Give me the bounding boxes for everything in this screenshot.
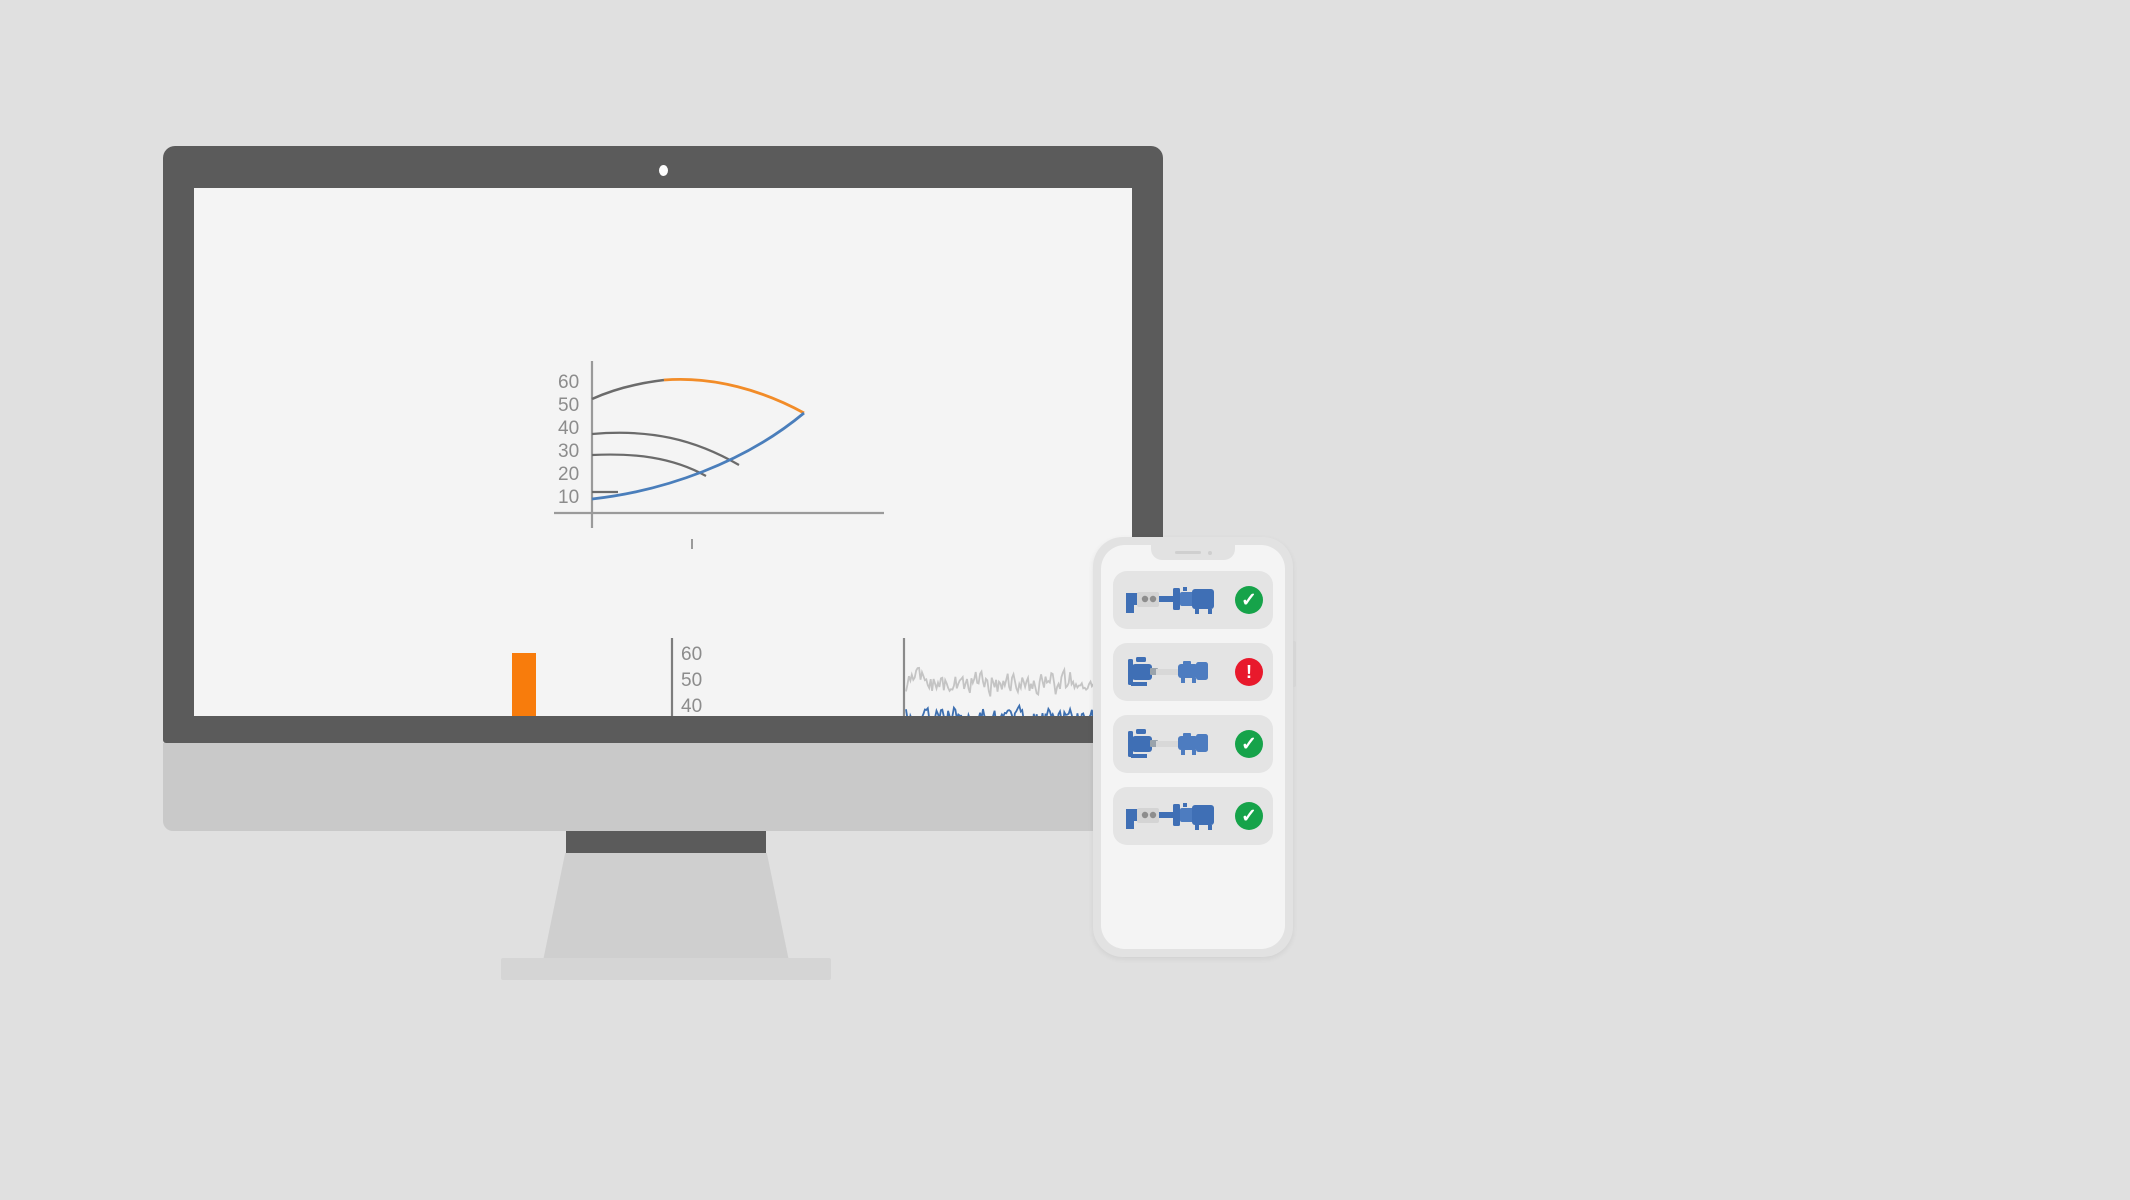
ytick-label: 10: [558, 487, 579, 508]
smartphone: ✓: [1093, 537, 1293, 957]
equipment-status-list: ✓: [1113, 571, 1273, 845]
status-badge: ✓: [1235, 802, 1263, 830]
chart-performance-envelope: 60 50 40 30 20 10: [554, 353, 884, 553]
phone-screen: ✓: [1101, 545, 1285, 949]
series-system-curve: [592, 413, 804, 499]
status-badge: !: [1235, 658, 1263, 686]
ytick-label: 60: [681, 644, 702, 665]
flanged-pump-motor-icon: [1123, 724, 1235, 764]
series-head-curve-upper-gray: [592, 380, 664, 399]
ytick-label: 30: [558, 441, 579, 462]
ytick-label: 50: [558, 395, 579, 416]
list-item[interactable]: ✓: [1113, 787, 1273, 845]
phone-frame: ✓: [1093, 537, 1293, 957]
ytick-label: 40: [681, 696, 702, 716]
monitor-stand-collar: [566, 831, 766, 853]
ytick-label: 20: [558, 464, 579, 485]
series-head-curve-low: [592, 455, 706, 476]
speaker-icon: [1175, 551, 1201, 554]
check-icon: ✓: [1241, 735, 1257, 754]
monitor-chin: [163, 743, 1163, 831]
monitor-stand-base: [501, 958, 831, 980]
series-head-curve-upper-orange: [664, 379, 804, 413]
status-badge: ✓: [1235, 586, 1263, 614]
desktop-monitor: 60 50 40 30 20 10: [163, 146, 1163, 836]
ytick-label: 50: [681, 670, 702, 691]
list-item[interactable]: ✓: [1113, 571, 1273, 629]
webcam-icon: [659, 165, 668, 176]
illustration-scene: 60 50 40 30 20 10: [0, 0, 2130, 1200]
phone-notch: [1151, 545, 1235, 560]
ytick-label: 60: [558, 372, 579, 393]
bar-2: [512, 653, 536, 716]
alert-icon: !: [1246, 663, 1252, 681]
status-badge: ✓: [1235, 730, 1263, 758]
check-icon: ✓: [1241, 591, 1257, 610]
list-item[interactable]: ✓: [1113, 715, 1273, 773]
list-item[interactable]: !: [1113, 643, 1273, 701]
check-icon: ✓: [1241, 807, 1257, 826]
monitor-stand-neck: [543, 853, 789, 961]
flanged-pump-motor-icon: [1123, 652, 1235, 692]
monitor-bezel: 60 50 40 30 20 10: [163, 146, 1163, 743]
phone-side-button[interactable]: [1293, 641, 1296, 687]
horizontal-pump-motor-icon: [1123, 796, 1235, 836]
monitor-screen: 60 50 40 30 20 10: [194, 188, 1132, 716]
chart-comparison-bars: 60 50 40 30 20 10: [404, 638, 704, 716]
horizontal-pump-motor-icon: [1123, 580, 1235, 620]
front-camera-icon: [1208, 551, 1212, 555]
ytick-label: 40: [558, 418, 579, 439]
